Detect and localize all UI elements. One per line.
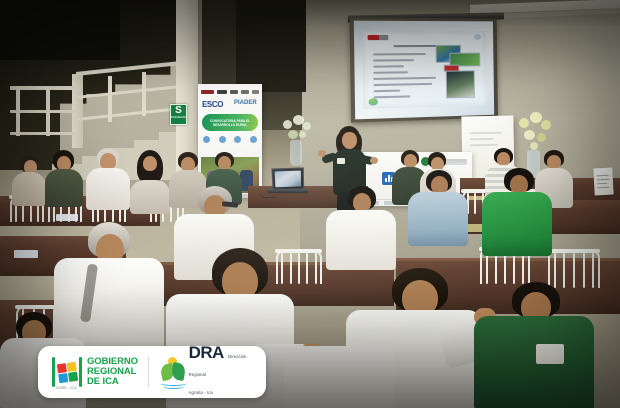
projected-slide (362, 31, 486, 109)
slide-bullet-5 (373, 77, 436, 80)
dra-text-block: DRA Dirección Regional Agraria - Ica (189, 345, 252, 399)
presenter-hand-left (318, 150, 326, 157)
banner-left-sponsor-strip (201, 88, 259, 95)
flower-right-3 (541, 120, 551, 130)
slide-bullet-2 (373, 59, 414, 61)
slide-secondary-logo-icon (474, 34, 481, 40)
dra-logo: DRA Dirección Regional Agraria - Ica (159, 345, 252, 399)
laptop-screen (271, 167, 304, 190)
flipchart-mark-3 (470, 144, 498, 146)
gobierno-line-3: DE ICA (87, 376, 119, 387)
flower-vase-left (290, 140, 302, 166)
flower-left-4 (288, 130, 298, 139)
attendee-front-bottom (284, 346, 394, 408)
flipchart-mark-2 (470, 138, 494, 140)
slide-logo-icon (368, 35, 389, 40)
flower-right-1 (519, 118, 529, 128)
gore-quad-icon (56, 361, 77, 382)
railing-post-2 (46, 86, 50, 136)
flower-right-5 (537, 133, 546, 142)
gobierno-regional-logo: GORE - ICA GOBIERNO REGIONAL DE ICA (52, 355, 138, 389)
attendee-rear-3 (86, 148, 130, 208)
slide-title-line (393, 45, 437, 47)
gore-ica-mark-icon: GORE - ICA (52, 355, 82, 389)
flower-left-1 (283, 120, 292, 129)
safety-sign-zona-segura: S ZONA SEGURA (170, 104, 187, 125)
hallway-deep-shadow (236, 0, 306, 92)
railing-post-3 (108, 76, 112, 122)
slide-bullet-4 (373, 71, 408, 73)
banner-icon-2 (218, 136, 227, 144)
flower-right-6 (530, 142, 538, 150)
slide-thumbnail-3 (446, 70, 475, 98)
staircase-upper-shadow (0, 0, 120, 60)
banner-icon-3 (233, 136, 242, 144)
slide-thumbnail-label (444, 65, 460, 72)
railing-post-4 (142, 72, 146, 116)
slide-bullet-3 (373, 65, 404, 67)
dra-leaf-sun-icon (159, 357, 184, 387)
attendee-rear-1 (10, 156, 48, 204)
institutional-logo-bar: GORE - ICA GOBIERNO REGIONAL DE ICA DRA … (38, 346, 266, 398)
attendee-mid-greenpolo (482, 168, 554, 258)
slide-bullet-7 (374, 90, 401, 92)
logo-bar-divider (148, 357, 149, 387)
attendee-credential-badge (536, 344, 564, 364)
flower-left-5 (299, 131, 306, 138)
banner-left-brand-esco: ESCO (202, 100, 223, 109)
slide-bullet-6 (373, 83, 432, 86)
attendee-mid-whiteshirt (326, 186, 396, 268)
dra-acronym: DRA (189, 343, 224, 362)
flower-right-2 (530, 112, 542, 123)
slide-footer-logo-icon (368, 98, 377, 105)
flower-right-4 (524, 130, 535, 140)
banner-left-badge: CONVOCATORIA PARA EL DESARROLLO RURAL (202, 114, 258, 131)
slide-bullet-8 (374, 95, 411, 98)
photograph-training-session: S ZONA SEGURA (0, 0, 620, 408)
projector-screen-surface (354, 21, 494, 120)
banner-left-brand-piader: PIADER (234, 100, 257, 106)
banner-icon-1 (202, 136, 211, 144)
flower-left-3 (303, 122, 311, 130)
safety-sign-letter: S (175, 105, 182, 116)
slide-bullet-1 (373, 53, 426, 55)
banner-icon-4 (249, 136, 258, 144)
dra-subtitle-line-2: Agraria - Ica (189, 390, 213, 395)
flipchart-mark-1 (470, 132, 502, 134)
attendee-front-far-right-green (474, 282, 594, 408)
safety-sign-caption: ZONA SEGURA (171, 116, 186, 119)
paper-left-mid (14, 250, 38, 258)
attendee-rear-2 (44, 150, 84, 206)
gobierno-regional-text: GOBIERNO REGIONAL DE ICA (87, 357, 138, 387)
attendee-mid-blueshirt (408, 170, 470, 244)
presenter-face (342, 132, 357, 149)
attendee-rear-4 (128, 150, 172, 212)
table-information-card (593, 168, 613, 196)
gore-mark-caption: GORE - ICA (56, 386, 77, 390)
railing-post-1 (16, 86, 20, 136)
presenter-hand-right (370, 157, 378, 164)
presenter-name-badge (337, 158, 345, 164)
banner-left-icon-row (202, 136, 258, 144)
